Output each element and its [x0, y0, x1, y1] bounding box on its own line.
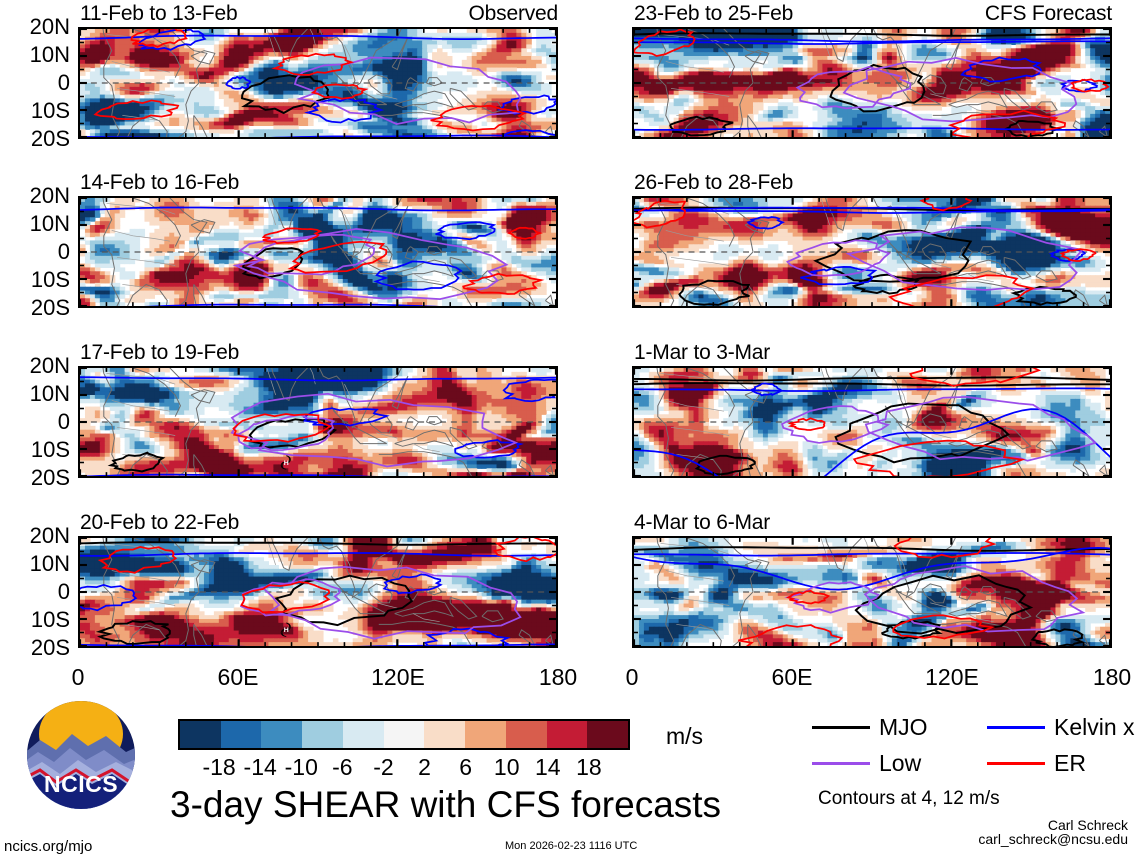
author-credit: Carl Schreck carl_schreck@ncsu.edu	[830, 818, 1128, 846]
map-plot-fcs-3	[632, 366, 1112, 478]
author-name: Carl Schreck	[830, 818, 1128, 832]
x-axis-labels-right: 060E120E180	[632, 666, 1112, 696]
y-tick-0: 0	[58, 241, 70, 263]
author-email[interactable]: carl_schreck@ncsu.edu	[830, 832, 1128, 846]
y-tick-0: 0	[58, 72, 70, 94]
y-tick-20N: 20N	[30, 355, 70, 377]
generation-timestamp: Mon 2026-02-23 1116 UTC	[505, 841, 637, 852]
panel-title-fcs-4: 4-Mar to 6-Mar	[634, 512, 770, 533]
axis-ticks	[80, 368, 556, 476]
colorbar-tick-labels: -18-14-10-6-226101418	[178, 756, 630, 784]
page-title: 3-day SHEAR with CFS forecasts	[170, 786, 721, 823]
legend-swatch-line	[987, 762, 1045, 765]
panel-title-fcs-2: 26-Feb to 28-Feb	[634, 172, 793, 193]
y-axis-labels-row1: 20N10N010S20S	[0, 27, 70, 139]
colorbar-tick-2: 2	[418, 756, 431, 779]
colorbar-swatch-2	[261, 721, 302, 748]
colorbar-swatch-10	[587, 721, 628, 748]
colorbar-unit-label: m/s	[666, 725, 703, 748]
y-axis-labels-row4: 20N10N010S20S	[0, 536, 70, 648]
map-plot-obs-4: H	[78, 536, 558, 648]
axis-ticks	[634, 368, 1110, 476]
colorbar-tick-18: 18	[576, 756, 602, 779]
map-plot-obs-3: H	[78, 366, 558, 478]
y-tick-10N: 10N	[30, 213, 70, 235]
y-axis-labels-row2: 20N10N010S20S	[0, 196, 70, 308]
ncics-logo: NCICS	[26, 700, 136, 815]
colorbar-swatch-4	[343, 721, 384, 748]
column-header-forecast: CFS Forecast	[632, 3, 1112, 24]
colorbar-swatch-6	[424, 721, 465, 748]
legend-label: Low	[879, 752, 921, 775]
y-tick-10S: 10S	[31, 269, 70, 291]
colorbar-tick--14: -14	[244, 756, 277, 779]
axis-ticks	[80, 29, 556, 137]
legend-item-low: Low	[812, 752, 921, 775]
legend-label: MJO	[879, 716, 928, 739]
legend-label: ER	[1054, 752, 1086, 775]
colorbar-swatch-7	[465, 721, 506, 748]
colorbar-swatch-5	[384, 721, 425, 748]
colorbar-tick-14: 14	[535, 756, 561, 779]
colorbar-swatch-9	[547, 721, 588, 748]
colorbar-tick-6: 6	[459, 756, 472, 779]
column-header-observed: Observed	[78, 3, 558, 24]
map-plot-obs-2	[78, 196, 558, 308]
x-tick-60E: 60E	[772, 666, 813, 689]
x-tick-0: 0	[72, 666, 85, 689]
colorbar-tick--18: -18	[202, 756, 235, 779]
y-tick-10N: 10N	[30, 383, 70, 405]
y-tick-20S: 20S	[31, 297, 70, 319]
y-tick-20S: 20S	[31, 637, 70, 659]
map-plot-fcs-4	[632, 536, 1112, 648]
y-tick-0: 0	[58, 581, 70, 603]
x-tick-180: 180	[539, 666, 577, 689]
x-tick-60E: 60E	[218, 666, 259, 689]
y-tick-10S: 10S	[31, 100, 70, 122]
y-tick-10S: 10S	[31, 439, 70, 461]
axis-ticks	[80, 538, 556, 646]
panel-title-obs-2: 14-Feb to 16-Feb	[80, 172, 239, 193]
map-plot-obs-1	[78, 27, 558, 139]
colorbar-swatch-8	[506, 721, 547, 748]
colorbar-tick--10: -10	[285, 756, 318, 779]
y-tick-20S: 20S	[31, 467, 70, 489]
legend-swatch-line	[812, 726, 870, 729]
x-axis-labels-left: 060E120E180	[78, 666, 558, 696]
colorbar-swatch-3	[302, 721, 343, 748]
panel-title-obs-3: 17-Feb to 19-Feb	[80, 342, 239, 363]
logo-label: NCICS	[44, 771, 118, 797]
site-url-link[interactable]: ncics.org/mjo	[4, 839, 92, 854]
colorbar-tick--6: -6	[332, 756, 352, 779]
wave-type-legend: MJOKelvin x2LowER	[812, 716, 1132, 786]
x-tick-180: 180	[1093, 666, 1131, 689]
panel-title-fcs-3: 1-Mar to 3-Mar	[634, 342, 770, 363]
axis-ticks	[634, 198, 1110, 306]
y-tick-10S: 10S	[31, 609, 70, 631]
map-plot-fcs-1	[632, 27, 1112, 139]
y-tick-20N: 20N	[30, 525, 70, 547]
axis-ticks	[634, 538, 1110, 646]
legend-item-er: ER	[987, 752, 1086, 775]
colorbar-swatch-1	[221, 721, 262, 748]
colorbar-tick-10: 10	[494, 756, 520, 779]
axis-ticks	[80, 198, 556, 306]
y-tick-20S: 20S	[31, 128, 70, 150]
x-tick-120E: 120E	[371, 666, 425, 689]
legend-label: Kelvin x2	[1054, 716, 1135, 739]
axis-ticks	[634, 29, 1110, 137]
legend-swatch-line	[987, 726, 1045, 729]
x-tick-0: 0	[626, 666, 639, 689]
legend-swatch-line	[812, 762, 870, 765]
contour-note: Contours at 4, 12 m/s	[818, 789, 1000, 808]
x-tick-120E: 120E	[925, 666, 979, 689]
y-tick-10N: 10N	[30, 44, 70, 66]
panel-title-obs-4: 20-Feb to 22-Feb	[80, 512, 239, 533]
y-tick-10N: 10N	[30, 553, 70, 575]
colorbar-swatch-0	[180, 721, 221, 748]
colorbar	[178, 719, 630, 750]
y-tick-20N: 20N	[30, 185, 70, 207]
map-plot-fcs-2	[632, 196, 1112, 308]
y-tick-20N: 20N	[30, 16, 70, 38]
legend-item-mjo: MJO	[812, 716, 928, 739]
legend-item-kelvin-x2: Kelvin x2	[987, 716, 1135, 739]
y-axis-labels-row3: 20N10N010S20S	[0, 366, 70, 478]
y-tick-0: 0	[58, 411, 70, 433]
colorbar-tick--2: -2	[373, 756, 393, 779]
